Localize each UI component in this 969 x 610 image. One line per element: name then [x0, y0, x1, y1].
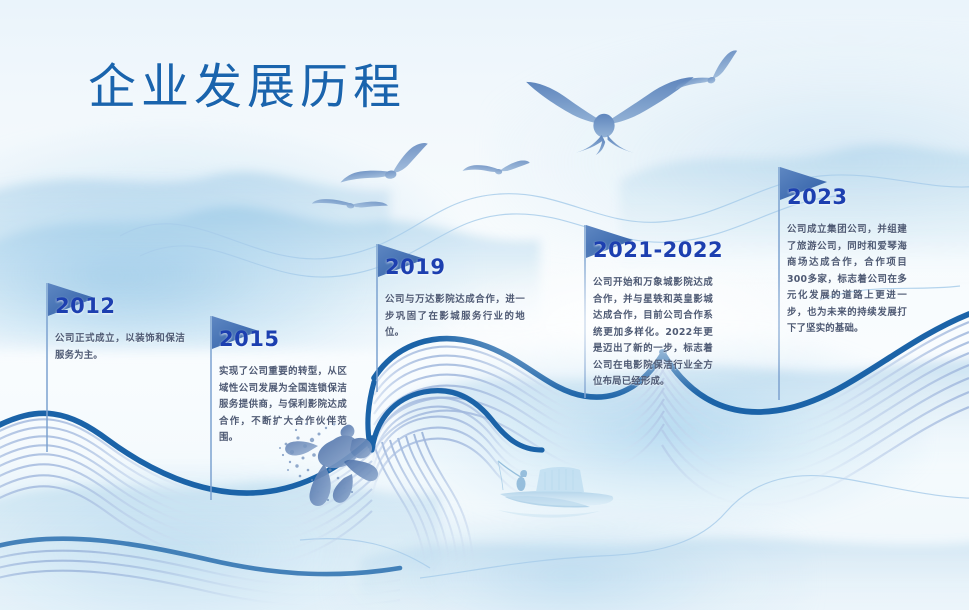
watercolor-wash-bottom-mid [330, 520, 810, 610]
seagull-icon-lower-left [312, 190, 388, 216]
seagull-icon-left [337, 142, 432, 185]
milestone-description-2023: 公司成立集团公司，并组建了旅游公司，同时和爱琴海商场达成合作，合作项目300多家… [787, 222, 907, 338]
milestone-year-2023: 2023 [787, 185, 907, 209]
poster-canvas: 企业发展历程 2012 公司正式成立，以装饰和保洁服务为主。 2015 实现了公… [0, 0, 969, 610]
fishing-line [498, 461, 503, 490]
fisherman-boat [498, 461, 613, 518]
seagull-icon-small-mid [463, 154, 530, 178]
milestone-description-2021-2022: 公司开始和万象城影院达成合作，并与星轶和英皇影城达成合作，目前公司合作系统更加多… [593, 275, 713, 391]
page-title: 企业发展历程 [88, 58, 406, 116]
milestone-2019: 2019 公司与万达影院达成合作，进一步巩固了在影城服务行业的地位。 [385, 255, 525, 342]
ribbon-edge-left-turn [368, 382, 374, 446]
milestone-year-2021-2022: 2021-2022 [593, 238, 713, 262]
seagull-icon-right [669, 50, 744, 95]
milestone-2012: 2012 公司正式成立，以装饰和保洁服务为主。 [55, 294, 185, 364]
ribbon-stripes-twist [374, 432, 474, 572]
ribbon-stripes-tail [0, 551, 400, 606]
ribbon-edge-tail [0, 539, 400, 574]
milestone-2023: 2023 公司成立集团公司，并组建了旅游公司，同时和爱琴海商场达成合作，合作项目… [787, 185, 907, 338]
milestone-year-2015: 2015 [219, 327, 347, 351]
milestone-description-2019: 公司与万达影院达成合作，进一步巩固了在影城服务行业的地位。 [385, 292, 525, 342]
ribbon-edge-fold [372, 391, 542, 450]
milestone-description-2015: 实现了公司重要的转型，从区域性公司发展为全国连锁保洁服务提供商，与保利影院达成合… [219, 364, 347, 447]
milestone-2021-2022: 2021-2022 公司开始和万象城影院达成合作，并与星轶和英皇影城达成合作，目… [593, 238, 713, 391]
seagull-icon-large [526, 77, 694, 155]
milestone-year-2012: 2012 [55, 294, 185, 318]
fishing-rod [498, 461, 524, 479]
milestone-2015: 2015 实现了公司重要的转型，从区域性公司发展为全国连锁保洁服务提供商，与保利… [219, 327, 347, 447]
milestone-description-2012: 公司正式成立，以装饰和保洁服务为主。 [55, 331, 185, 364]
milestone-year-2019: 2019 [385, 255, 525, 279]
ribbon-stripes-upper-fold [372, 389, 542, 498]
watercolor-wash-bottom-left [0, 470, 460, 610]
